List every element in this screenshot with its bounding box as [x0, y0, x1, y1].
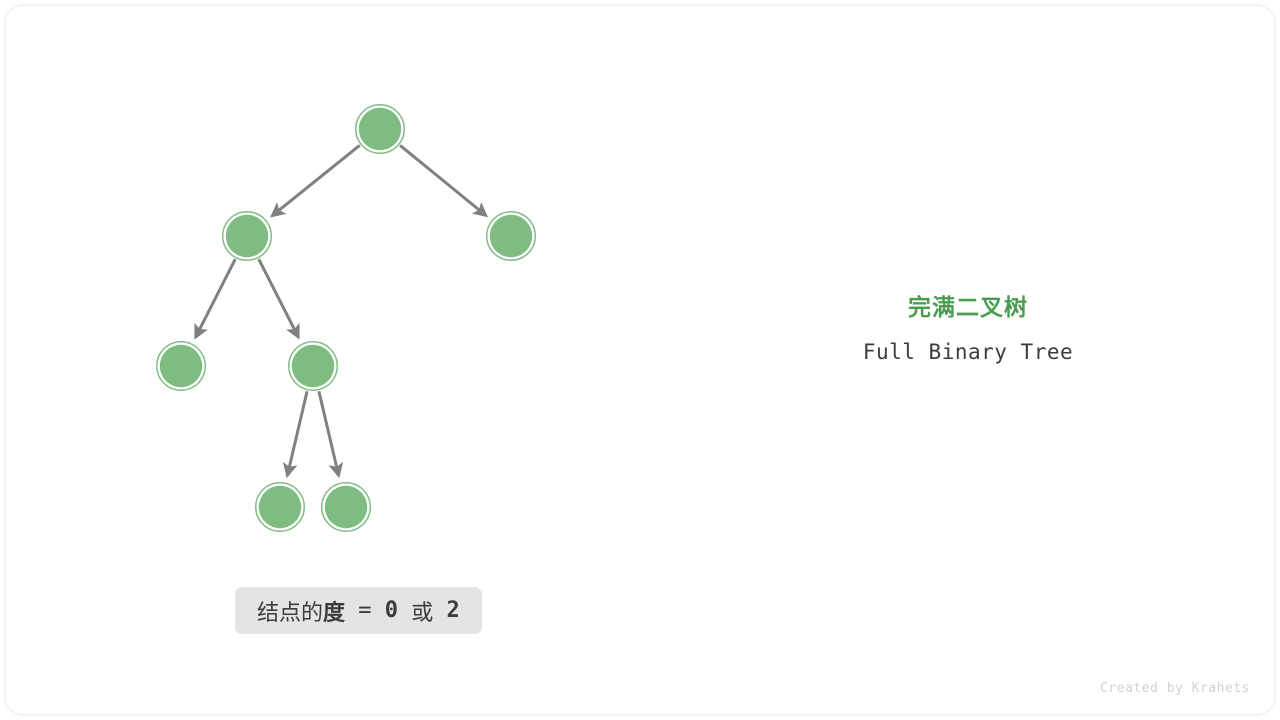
diagram-title-en: Full Binary Tree — [768, 339, 1168, 365]
caption-segment: 或 — [398, 595, 447, 627]
caption-segment: 0 — [385, 598, 398, 623]
caption-segment: 结点的 — [257, 595, 323, 627]
caption-segment: = — [345, 598, 385, 623]
screenshot-canvas: 完满二叉树 Full Binary Tree 结点的度 = 0 或 2 Crea… — [0, 0, 1280, 720]
degree-caption-chip: 结点的度 = 0 或 2 — [235, 587, 482, 634]
diagram-label-block: 完满二叉树 Full Binary Tree — [768, 292, 1168, 365]
caption-segment: 2 — [447, 598, 460, 623]
diagram-title-cn: 完满二叉树 — [768, 292, 1168, 322]
caption-segment: 度 — [323, 595, 345, 627]
credit-text: Created by Krahets — [1100, 681, 1250, 696]
